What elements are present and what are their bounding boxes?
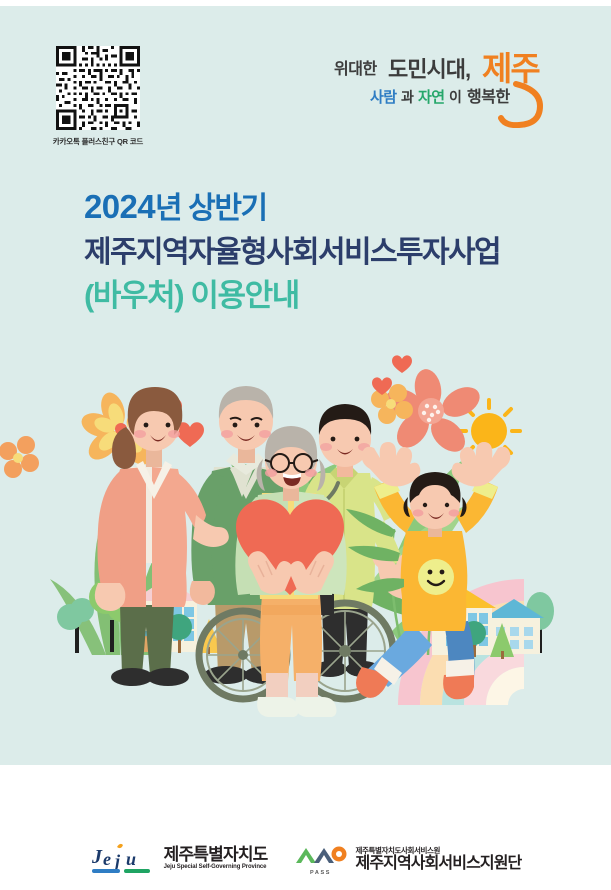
title-line-3: (바우처) 이용안내 <box>84 276 554 316</box>
svg-text:j: j <box>112 851 121 871</box>
title-line-1: 2024년 상반기 <box>84 186 554 229</box>
qr-code-icon[interactable] <box>56 46 140 130</box>
logo-pass-support-center: PASS 제주특별자치도사회서비스원 제주지역사회서비스지원단 <box>294 843 522 876</box>
brochure-cover: 카카오톡 플러스친구 QR 코드 위대한 도민시대, 사람 과 자연 이 행복한… <box>0 0 611 890</box>
slogan-line1-prefix: 위대한 <box>334 59 377 78</box>
slogan-line2-a: 사람 <box>370 89 397 106</box>
footer-logos: J e j u 제주특별자치도 Jeju Special Self-Govern… <box>0 833 611 885</box>
slogan-line2-b: 과 <box>401 89 414 105</box>
jeju-logo-korean: 제주특별자치도 <box>164 846 268 864</box>
slogan-line1-emphasis: 도민시대, <box>388 57 470 82</box>
family-community-illustration <box>0 355 611 765</box>
title-line-2: 제주지역자율형사회서비스투자사업 <box>84 233 554 272</box>
jeju-slogan: 위대한 도민시대, 사람 과 자연 이 행복한 제주 <box>330 44 570 128</box>
pass-logo-small-line: 제주특별자치도사회서비스원 <box>356 846 522 855</box>
slogan-brand: 제주 <box>482 50 540 87</box>
slogan-line2-c: 자연 <box>418 89 445 106</box>
jeju-wordmark-icon: J e j u <box>90 841 156 877</box>
svg-text:J: J <box>91 846 103 868</box>
svg-text:u: u <box>126 849 136 869</box>
page-title: 2024년 상반기 제주지역자율형사회서비스투자사업 (바우처) 이용안내 <box>84 186 554 316</box>
qr-caption: 카카오톡 플러스친구 QR 코드 <box>38 136 158 147</box>
pass-logo-icon <box>294 843 348 869</box>
svg-text:e: e <box>103 849 111 869</box>
qr-block: 카카오톡 플러스친구 QR 코드 <box>38 46 158 147</box>
pass-logo-big-line: 제주지역사회서비스지원단 <box>356 855 522 873</box>
logo-jeju-province: J e j u 제주특별자치도 Jeju Special Self-Govern… <box>90 841 268 877</box>
slogan-line2-e: 행복한 <box>467 87 510 106</box>
slogan-line2-d: 이 <box>449 89 462 105</box>
title-year-suffix: 년 상반기 <box>155 192 267 225</box>
pass-logo-label: PASS <box>294 870 348 876</box>
title-year: 2024 <box>84 188 155 225</box>
jeju-logo-english: Jeju Special Self-Governing Province <box>164 864 268 872</box>
